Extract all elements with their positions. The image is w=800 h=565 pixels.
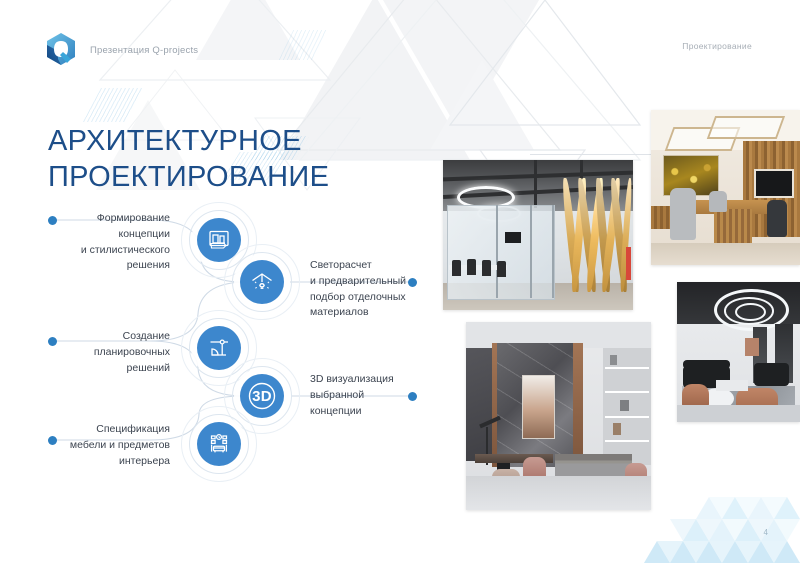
photo-executive-office-wood-desk-artwork: [651, 110, 800, 265]
page-title: АРХИТЕКТУРНОЕ ПРОЕКТИРОВАНИЕ: [48, 124, 329, 195]
brand-logo-group: Презентация Q-projects: [44, 32, 198, 68]
photo-lounge-ring-chandelier-leather-sofas: [677, 282, 800, 422]
brand-text: Презентация Q-projects: [90, 45, 198, 56]
decor-line-1: [530, 154, 670, 155]
sofa-furniture-icon[interactable]: [197, 422, 241, 466]
process-steps-list: Формирование концепции и стилистического…: [0, 196, 440, 496]
section-label: Проектирование: [682, 41, 752, 51]
step-text-4: 3D визуализация выбранной концепции: [310, 372, 450, 419]
step-text-3: Создание планировочных решений: [0, 329, 170, 376]
photo-modern-office-marble-walls-pink-chairs: [466, 322, 651, 510]
decor-triangle-mosaic: [640, 485, 800, 565]
slide-header: Презентация Q-projects Проектирование: [0, 0, 800, 82]
step-text-1: Формирование концепции и стилистического…: [0, 211, 170, 274]
q-hexagon-logo-icon: [44, 32, 78, 68]
photo-office-glass-partition-wooden-wave-wall: [443, 160, 633, 310]
step-text-2: Светорасчет и предварительный подбор отд…: [310, 258, 450, 321]
floor-plan-icon[interactable]: [197, 326, 241, 370]
step-text-5: Спецификация мебели и предметов интерьер…: [0, 422, 170, 469]
presentation-slide: Презентация Q-projects Проектирование АР…: [0, 0, 800, 565]
ceiling-lamp-icon[interactable]: [240, 260, 284, 304]
3d-icon-label: 3D: [252, 388, 272, 405]
3d-circle-icon[interactable]: 3D: [240, 374, 284, 418]
page-number: 4: [764, 528, 768, 537]
decor-hatch-1: [83, 88, 143, 122]
